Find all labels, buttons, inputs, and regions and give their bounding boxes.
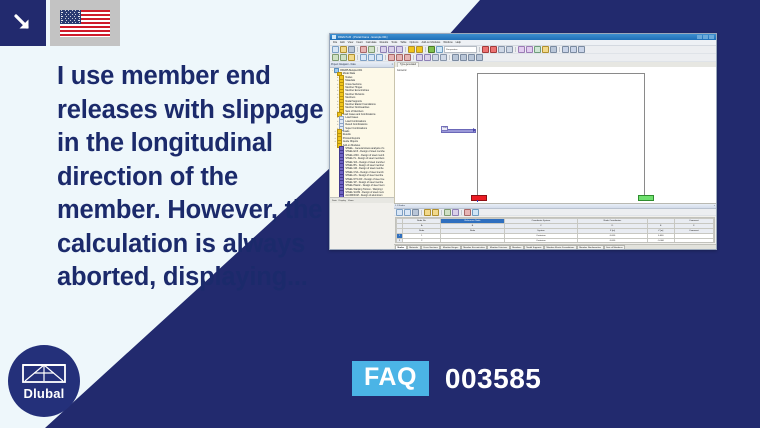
toolbar-secondary[interactable]: [330, 54, 716, 62]
menu-item-file[interactable]: File: [333, 41, 337, 44]
sections-icon[interactable]: [550, 46, 557, 53]
table-cell-coord-system[interactable]: Cartesian: [504, 239, 577, 244]
menu-item-help[interactable]: Help: [456, 41, 461, 44]
model-canvas[interactable]: Isometric 1.00: [395, 67, 716, 203]
preview-icon[interactable]: [368, 46, 375, 53]
zoom-icon[interactable]: [436, 46, 443, 53]
menu-item-results[interactable]: Results: [380, 41, 389, 44]
member-left-column: [477, 73, 478, 195]
text-tool-icon[interactable]: [440, 54, 447, 61]
copy-icon[interactable]: [388, 46, 395, 53]
snap-icon[interactable]: [506, 46, 513, 53]
menu-item-view[interactable]: View: [348, 41, 354, 44]
member-load-icon[interactable]: [396, 54, 403, 61]
faq-label: FAQ: [352, 361, 429, 396]
navigator-tab-display[interactable]: Display: [339, 200, 346, 202]
member-load-arrowhead: [473, 128, 476, 132]
dimension-tool-icon[interactable]: [432, 54, 439, 61]
redo-icon[interactable]: [416, 46, 423, 53]
toolbar-separator: [425, 47, 426, 52]
faq-number: 003585: [445, 363, 541, 395]
member-right-column: [644, 73, 645, 195]
menu-item-addon-modules[interactable]: Add-on Modules: [421, 41, 440, 44]
materials-icon[interactable]: [542, 46, 549, 53]
menu-item-edit[interactable]: Edit: [340, 41, 344, 44]
view-front-icon[interactable]: [452, 54, 459, 61]
member-top-beam: [477, 73, 645, 74]
table-cell-x[interactable]: 0.000: [578, 239, 648, 244]
arrow-down-right-icon: [11, 11, 35, 35]
member-tool-icon[interactable]: [368, 54, 375, 61]
toolbar-separator: [479, 47, 480, 52]
settings-icon[interactable]: [578, 46, 585, 53]
maximize-button[interactable]: [703, 35, 708, 39]
table-new-row-icon[interactable]: [396, 209, 403, 216]
view-label: Isometric: [397, 69, 407, 72]
application-body: Project Navigator - Data × -RFEM5-Beispi…: [330, 62, 716, 203]
table-save-icon[interactable]: [412, 209, 419, 216]
table-cell-ref-node[interactable]: [441, 239, 504, 244]
app-icon: [332, 35, 336, 39]
line-tool-icon[interactable]: [332, 54, 339, 61]
project-navigator: Project Navigator - Data × -RFEM5-Beispi…: [330, 62, 395, 203]
render-icon[interactable]: [482, 46, 489, 53]
table-panel: 1.1 Nodes × Node No.Reference NodeCoordi…: [394, 203, 716, 250]
arrow-badge: [0, 0, 46, 46]
toolbar-separator: [413, 55, 414, 60]
table-filter-icon[interactable]: [424, 209, 431, 216]
headline-text: I use member end releases with slippage …: [57, 60, 325, 295]
wireframe-icon[interactable]: [490, 46, 497, 53]
table-settings-icon[interactable]: [452, 209, 459, 216]
toolbar-separator: [385, 55, 386, 60]
toolbar-separator: [357, 55, 358, 60]
table-title: 1.1 Nodes: [395, 205, 405, 207]
toolbar-separator: [405, 47, 406, 52]
table-close-icon[interactable]: ×: [714, 205, 715, 207]
toolbar-separator: [515, 47, 516, 52]
toolbar-separator: [449, 55, 450, 60]
menu-item-table[interactable]: Table: [400, 41, 406, 44]
paste-icon[interactable]: [396, 46, 403, 53]
menu-item-calculate[interactable]: Calculate: [366, 41, 377, 44]
grid-icon[interactable]: [498, 46, 505, 53]
surface-load-icon[interactable]: [404, 54, 411, 61]
toolbar-separator: [357, 47, 358, 52]
table-cell-node-no[interactable]: 2: [403, 239, 441, 244]
table-grid[interactable]: Node No.Reference NodeCoordinate SystemN…: [395, 217, 715, 243]
new-icon[interactable]: [332, 46, 339, 53]
polyline-tool-icon[interactable]: [340, 54, 347, 61]
table-sort-icon[interactable]: [432, 209, 439, 216]
view-top-icon[interactable]: [460, 54, 467, 61]
toolbar-separator: [377, 47, 378, 52]
table-help-icon[interactable]: [472, 209, 479, 216]
loads-icon[interactable]: [518, 46, 525, 53]
window-controls[interactable]: [697, 35, 714, 39]
dlubal-logo: Dlubal: [8, 345, 80, 417]
logo-wordmark: Dlubal: [24, 386, 65, 401]
hinge-tool-icon[interactable]: [416, 54, 423, 61]
arc-tool-icon[interactable]: [348, 54, 355, 61]
eccentricity-tool-icon[interactable]: [424, 54, 431, 61]
view-iso-icon[interactable]: [476, 54, 483, 61]
toolbar-separator: [441, 210, 442, 215]
table-print-icon[interactable]: [464, 209, 471, 216]
menu-item-tools[interactable]: Tools: [391, 41, 397, 44]
table-delete-row-icon[interactable]: [404, 209, 411, 216]
toolbar-separator: [421, 210, 422, 215]
load-value-label: 1.00: [441, 126, 448, 131]
report-icon[interactable]: [570, 46, 577, 53]
print-icon[interactable]: [360, 46, 367, 53]
toolbar-separator: [559, 47, 560, 52]
window-title: RFEM 5.26 - [Portal Frame - Example 001]: [338, 36, 697, 39]
cut-icon[interactable]: [380, 46, 387, 53]
save-icon[interactable]: [348, 46, 355, 53]
toolbar-separator: [461, 210, 462, 215]
navigator-close-icon[interactable]: ×: [392, 64, 393, 66]
us-flag-icon: [60, 10, 110, 37]
faq-row: FAQ 003585: [352, 361, 541, 396]
view-side-icon[interactable]: [468, 54, 475, 61]
navigator-title: Project Navigator - Data: [331, 64, 356, 66]
model-work-area[interactable]: Type-generated Isometric 1.00: [395, 62, 716, 203]
table-export-icon[interactable]: [444, 209, 451, 216]
nodal-load-icon[interactable]: [388, 54, 395, 61]
supports-icon[interactable]: [526, 46, 533, 53]
navigator-tab-data[interactable]: Data: [332, 200, 337, 202]
flag-badge: [50, 0, 120, 46]
table-row[interactable]: 22Cartesian0.000-5.000: [397, 239, 714, 244]
view-mode-combo[interactable]: Perspective: [444, 46, 477, 53]
nodal-support-right[interactable]: [638, 195, 654, 201]
table-toolbar[interactable]: [394, 209, 716, 216]
minimize-button[interactable]: [697, 35, 702, 39]
table-cell-z[interactable]: -5.000: [647, 239, 674, 244]
rfem-application-window: RFEM 5.26 - [Portal Frame - Example 001]…: [329, 33, 717, 250]
members-icon[interactable]: [534, 46, 541, 53]
dlubal-frame-icon: [22, 362, 66, 384]
close-button[interactable]: [709, 35, 714, 39]
open-icon[interactable]: [340, 46, 347, 53]
results-icon[interactable]: [562, 46, 569, 53]
navigator-tree[interactable]: -RFEM5-Beispiel-001-Model Data+Nodes+Mat…: [330, 68, 394, 197]
navigator-tab-views[interactable]: Views: [348, 200, 354, 202]
toolbar-primary[interactable]: Perspective: [330, 46, 716, 54]
undo-icon[interactable]: [408, 46, 415, 53]
nodal-support-left[interactable]: [471, 195, 487, 201]
navigator-bottom-tabs[interactable]: Data Display Views: [330, 197, 394, 203]
table-cell-comment[interactable]: [674, 239, 713, 244]
menu-item-insert[interactable]: Insert: [356, 41, 363, 44]
menu-item-options[interactable]: Options: [410, 41, 419, 44]
node-marker: [477, 200, 479, 202]
node-tool-icon[interactable]: [360, 54, 367, 61]
calculate-icon[interactable]: [428, 46, 435, 53]
menu-item-window[interactable]: Window: [443, 41, 452, 44]
surface-tool-icon[interactable]: [376, 54, 383, 61]
